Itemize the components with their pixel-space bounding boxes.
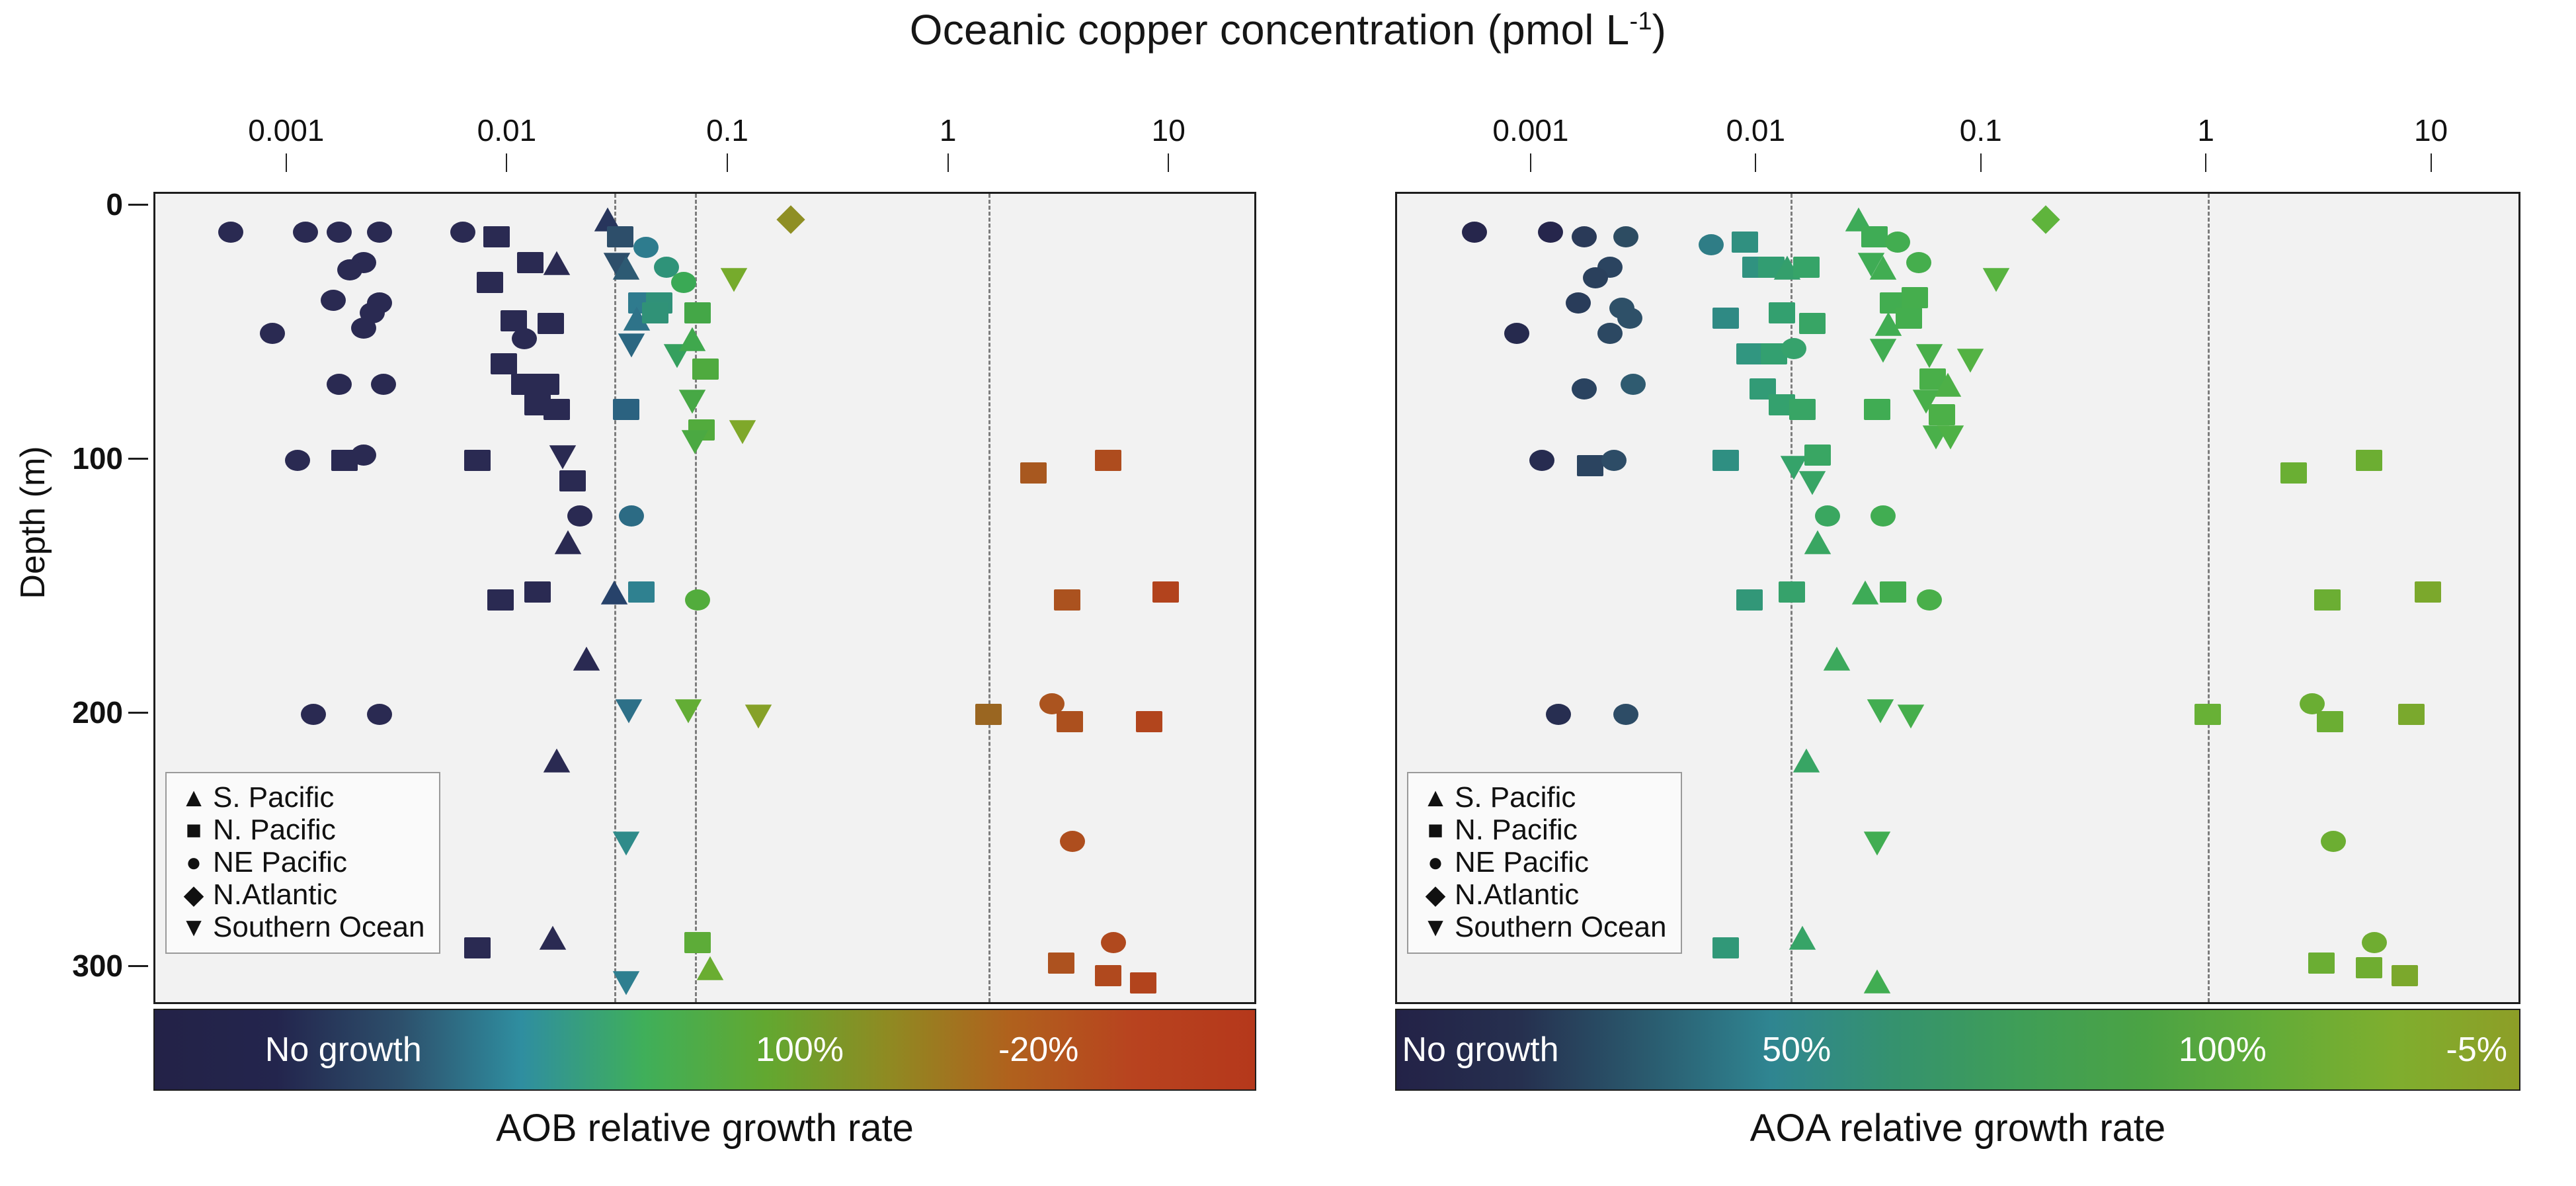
data-point[interactable] <box>975 704 1002 725</box>
x-tick-label: 0.01 <box>1726 112 1786 148</box>
data-point[interactable] <box>1871 505 1896 527</box>
data-point[interactable] <box>1136 711 1162 732</box>
colorbar-label: -5% <box>2446 1030 2507 1070</box>
legend-marker-icon: ▼ <box>179 914 209 941</box>
data-point[interactable] <box>477 272 503 293</box>
data-point[interactable] <box>533 374 559 395</box>
data-point[interactable] <box>1851 579 1880 605</box>
data-point[interactable] <box>633 237 659 258</box>
legend-label: Southern Ocean <box>213 911 424 944</box>
data-point[interactable] <box>1130 972 1156 994</box>
x-tick-label: 1 <box>2197 112 2214 148</box>
legend-aob: ▲S. Pacific■N. Pacific●NE Pacific◆N.Atla… <box>165 772 440 954</box>
data-point[interactable] <box>744 701 773 728</box>
data-point[interactable] <box>612 254 641 280</box>
data-point[interactable] <box>1613 704 1638 725</box>
data-point[interactable] <box>1057 711 1083 732</box>
x-tick-mark <box>506 153 507 172</box>
x-tick-label: 1 <box>940 112 957 148</box>
panel-aoa: 0.0010.010.1110▲S. Pacific■N. Pacific●NE… <box>1288 0 2576 1186</box>
data-point[interactable] <box>1885 232 1910 253</box>
data-point[interactable] <box>2321 831 2346 852</box>
data-point[interactable] <box>2194 704 2221 725</box>
data-point[interactable] <box>617 330 646 357</box>
x-tick-mark <box>1168 153 1169 172</box>
data-point[interactable] <box>1538 222 1563 243</box>
data-point[interactable] <box>2280 462 2307 484</box>
data-point[interactable] <box>1736 589 1763 611</box>
data-point[interactable] <box>1815 505 1840 527</box>
data-point[interactable] <box>517 252 543 273</box>
data-point[interactable] <box>1152 581 1179 603</box>
colorbar-label: -20% <box>998 1030 1078 1070</box>
data-point[interactable] <box>293 222 318 243</box>
data-point[interactable] <box>1917 589 1942 611</box>
data-point[interactable] <box>612 968 641 994</box>
data-point[interactable] <box>572 645 601 671</box>
data-point[interactable] <box>260 323 285 344</box>
legend-aoa: ▲S. Pacific■N. Pacific●NE Pacific◆N.Atla… <box>1407 772 1682 954</box>
legend-item[interactable]: ■N. Pacific <box>1420 814 1666 846</box>
legend-item[interactable]: ▲S. Pacific <box>1420 781 1666 814</box>
data-point[interactable] <box>612 828 641 855</box>
data-point[interactable] <box>2392 965 2418 986</box>
data-point[interactable] <box>1896 701 1925 728</box>
colorbar-label: No growth <box>1402 1030 1559 1070</box>
legend-item[interactable]: ▼Southern Ocean <box>179 911 424 943</box>
data-point[interactable] <box>1769 302 1795 323</box>
data-point[interactable] <box>692 359 719 380</box>
legend-item[interactable]: ▼Southern Ocean <box>1420 911 1666 943</box>
data-point[interactable] <box>1982 265 2011 291</box>
data-point[interactable] <box>483 226 510 247</box>
data-point[interactable] <box>1863 968 1892 994</box>
x-axis-ticks: 0.0010.010.1110 <box>0 112 1288 147</box>
data-point[interactable] <box>1792 747 1821 773</box>
data-point[interactable] <box>1861 226 1888 247</box>
legend-item[interactable]: ■N. Pacific <box>179 814 424 846</box>
data-point[interactable] <box>301 704 326 725</box>
panel-caption-aoa: AOA relative growth rate <box>1395 1106 2520 1150</box>
data-point[interactable] <box>538 313 564 334</box>
legend-item[interactable]: ●NE Pacific <box>1420 846 1666 878</box>
data-point[interactable] <box>1779 581 1805 603</box>
reference-line <box>2208 194 2210 1002</box>
colorbar-aoa: No growth50%100%-5% <box>1395 1009 2520 1091</box>
legend-item[interactable]: ▲S. Pacific <box>179 781 424 814</box>
data-point[interactable] <box>2415 581 2441 603</box>
data-point[interactable] <box>1956 345 1985 372</box>
data-point[interactable] <box>543 399 570 420</box>
data-point[interactable] <box>321 290 346 311</box>
data-point[interactable] <box>628 581 655 603</box>
data-point[interactable] <box>450 222 475 243</box>
data-point[interactable] <box>1799 313 1826 334</box>
data-point[interactable] <box>1732 232 1758 253</box>
data-point[interactable] <box>327 222 352 243</box>
data-point[interactable] <box>1804 445 1831 466</box>
data-point[interactable] <box>1793 257 1820 278</box>
colorbar-label: 100% <box>756 1030 844 1070</box>
data-point[interactable] <box>2356 450 2382 471</box>
data-point[interactable] <box>1712 937 1739 958</box>
data-point[interactable] <box>548 442 577 468</box>
data-point[interactable] <box>684 932 711 953</box>
data-point[interactable] <box>351 445 376 466</box>
colorbar-label: No growth <box>265 1030 422 1070</box>
data-point[interactable] <box>1617 308 1642 329</box>
data-point[interactable] <box>1863 828 1892 855</box>
data-point[interactable] <box>464 937 491 958</box>
x-tick-label: 0.01 <box>477 112 537 148</box>
x-tick-mark <box>2205 153 2206 172</box>
legend-label: N. Pacific <box>1455 814 1578 847</box>
legend-label: NE Pacific <box>1455 846 1589 879</box>
legend-item[interactable]: ◆N.Atlantic <box>1420 878 1666 911</box>
data-point[interactable] <box>1048 953 1074 974</box>
data-point[interactable] <box>2356 957 2382 978</box>
colorbar-label: 100% <box>2179 1030 2267 1070</box>
data-point[interactable] <box>553 529 583 555</box>
legend-marker-icon: ◆ <box>1420 882 1451 908</box>
x-tick-mark <box>727 153 728 172</box>
data-point[interactable] <box>2031 204 2061 233</box>
data-point[interactable] <box>1613 226 1638 247</box>
data-point[interactable] <box>2308 953 2335 974</box>
data-point[interactable] <box>1095 450 1121 471</box>
x-tick-label: 0.1 <box>706 112 748 148</box>
data-point[interactable] <box>678 386 707 413</box>
data-point[interactable] <box>619 505 644 527</box>
data-point[interactable] <box>1577 455 1603 476</box>
x-tick-label: 0.001 <box>1492 112 1568 148</box>
data-point[interactable] <box>1566 292 1591 314</box>
colorbar-label: 50% <box>1762 1030 1831 1070</box>
data-point[interactable] <box>327 374 352 395</box>
data-point[interactable] <box>285 450 310 471</box>
data-point[interactable] <box>1712 450 1739 471</box>
data-point[interactable] <box>1736 343 1763 364</box>
panel-caption-aob: AOB relative growth rate <box>153 1106 1256 1150</box>
data-point[interactable] <box>524 581 551 603</box>
x-tick-label: 0.1 <box>1960 112 2002 148</box>
data-point[interactable] <box>1864 399 1890 420</box>
data-point[interactable] <box>1546 704 1571 725</box>
data-point[interactable] <box>728 417 757 443</box>
x-tick-mark <box>947 153 949 172</box>
reference-line <box>988 194 990 1002</box>
data-point[interactable] <box>680 427 709 453</box>
data-point[interactable] <box>776 204 806 233</box>
data-point[interactable] <box>1902 287 1928 308</box>
data-point[interactable] <box>1869 335 1898 362</box>
data-point[interactable] <box>1789 399 1816 420</box>
data-point[interactable] <box>1572 378 1597 400</box>
data-point[interactable] <box>1095 965 1121 986</box>
data-point[interactable] <box>600 579 629 605</box>
legend-label: NE Pacific <box>213 846 347 879</box>
panel-aob: 0.0010.010.1110▲S. Pacific■N. Pacific●NE… <box>0 0 1288 1186</box>
data-point[interactable] <box>1597 323 1623 344</box>
data-point[interactable] <box>512 328 537 349</box>
data-point[interactable] <box>671 272 696 293</box>
x-tick-label: 0.001 <box>248 112 324 148</box>
data-point[interactable] <box>2317 711 2343 732</box>
x-tick-mark <box>1530 153 1531 172</box>
data-point[interactable] <box>1060 831 1085 852</box>
data-point[interactable] <box>1572 226 1597 247</box>
legend-marker-icon: ◆ <box>179 882 209 908</box>
legend-item[interactable]: ◆N.Atlantic <box>179 878 424 911</box>
data-point[interactable] <box>371 374 396 395</box>
data-point[interactable] <box>2398 704 2425 725</box>
data-point[interactable] <box>1880 581 1906 603</box>
data-point[interactable] <box>2314 589 2341 611</box>
data-point[interactable] <box>567 505 592 527</box>
data-point[interactable] <box>351 318 376 339</box>
data-point[interactable] <box>1781 338 1806 359</box>
data-point[interactable] <box>337 259 362 280</box>
data-point[interactable] <box>367 292 392 314</box>
legend-item[interactable]: ●NE Pacific <box>179 846 424 878</box>
data-point[interactable] <box>2362 932 2387 953</box>
data-point[interactable] <box>1504 323 1529 344</box>
data-point[interactable] <box>1054 589 1080 611</box>
data-point[interactable] <box>614 696 643 722</box>
data-point[interactable] <box>491 353 517 374</box>
x-tick-mark <box>2431 153 2432 172</box>
legend-marker-icon: ● <box>1420 849 1451 876</box>
data-point[interactable] <box>1712 308 1739 329</box>
data-point[interactable] <box>607 226 633 247</box>
data-point[interactable] <box>696 954 725 981</box>
data-point[interactable] <box>678 325 707 352</box>
data-point[interactable] <box>1933 371 1962 398</box>
data-point[interactable] <box>1699 234 1724 255</box>
data-point[interactable] <box>1866 696 1895 722</box>
data-point[interactable] <box>613 399 639 420</box>
data-point[interactable] <box>367 704 392 725</box>
data-point[interactable] <box>1020 462 1047 484</box>
data-point[interactable] <box>1583 267 1608 288</box>
data-point[interactable] <box>1906 252 1931 273</box>
colorbar-aob: No growth100%-20% <box>153 1009 1256 1091</box>
data-point[interactable] <box>1621 374 1646 395</box>
data-point[interactable] <box>1869 254 1898 280</box>
legend-marker-icon: ■ <box>179 817 209 843</box>
data-point[interactable] <box>542 747 571 773</box>
legend-marker-icon: ■ <box>1420 817 1451 843</box>
legend-label: N. Pacific <box>213 814 336 847</box>
legend-label: S. Pacific <box>213 781 334 814</box>
legend-marker-icon: ▲ <box>179 784 209 811</box>
data-point[interactable] <box>1601 450 1627 471</box>
data-point[interactable] <box>1798 468 1827 494</box>
data-point[interactable] <box>685 589 710 611</box>
legend-label: S. Pacific <box>1455 781 1576 814</box>
data-point[interactable] <box>684 302 711 323</box>
data-point[interactable] <box>1822 645 1851 671</box>
legend-marker-icon: ▲ <box>1420 784 1451 811</box>
data-point[interactable] <box>542 249 571 276</box>
legend-label: N.Atlantic <box>1455 878 1579 911</box>
x-tick-label: 10 <box>2414 112 2448 148</box>
data-point[interactable] <box>1529 450 1554 471</box>
data-point[interactable] <box>1462 222 1487 243</box>
legend-marker-icon: ● <box>179 849 209 876</box>
x-tick-mark <box>286 153 287 172</box>
data-point[interactable] <box>559 470 586 491</box>
legend-label: N.Atlantic <box>213 878 337 911</box>
data-point[interactable] <box>538 924 567 951</box>
data-point[interactable] <box>719 265 748 291</box>
data-point[interactable] <box>218 222 243 243</box>
legend-marker-icon: ▼ <box>1420 914 1451 941</box>
data-point[interactable] <box>1101 932 1126 953</box>
data-point[interactable] <box>674 696 703 722</box>
data-point[interactable] <box>1936 422 1965 448</box>
data-point[interactable] <box>367 222 392 243</box>
data-point[interactable] <box>1788 924 1817 951</box>
x-tick-label: 10 <box>1152 112 1186 148</box>
x-axis-ticks: 0.0010.010.1110 <box>1288 112 2576 147</box>
data-point[interactable] <box>487 589 514 611</box>
data-point[interactable] <box>1915 341 1944 367</box>
data-point[interactable] <box>642 302 668 323</box>
x-tick-mark <box>1980 153 1982 172</box>
legend-label: Southern Ocean <box>1455 911 1666 944</box>
data-point[interactable] <box>1896 308 1922 329</box>
data-point[interactable] <box>1803 529 1832 555</box>
x-tick-mark <box>1755 153 1756 172</box>
data-point[interactable] <box>464 450 491 471</box>
